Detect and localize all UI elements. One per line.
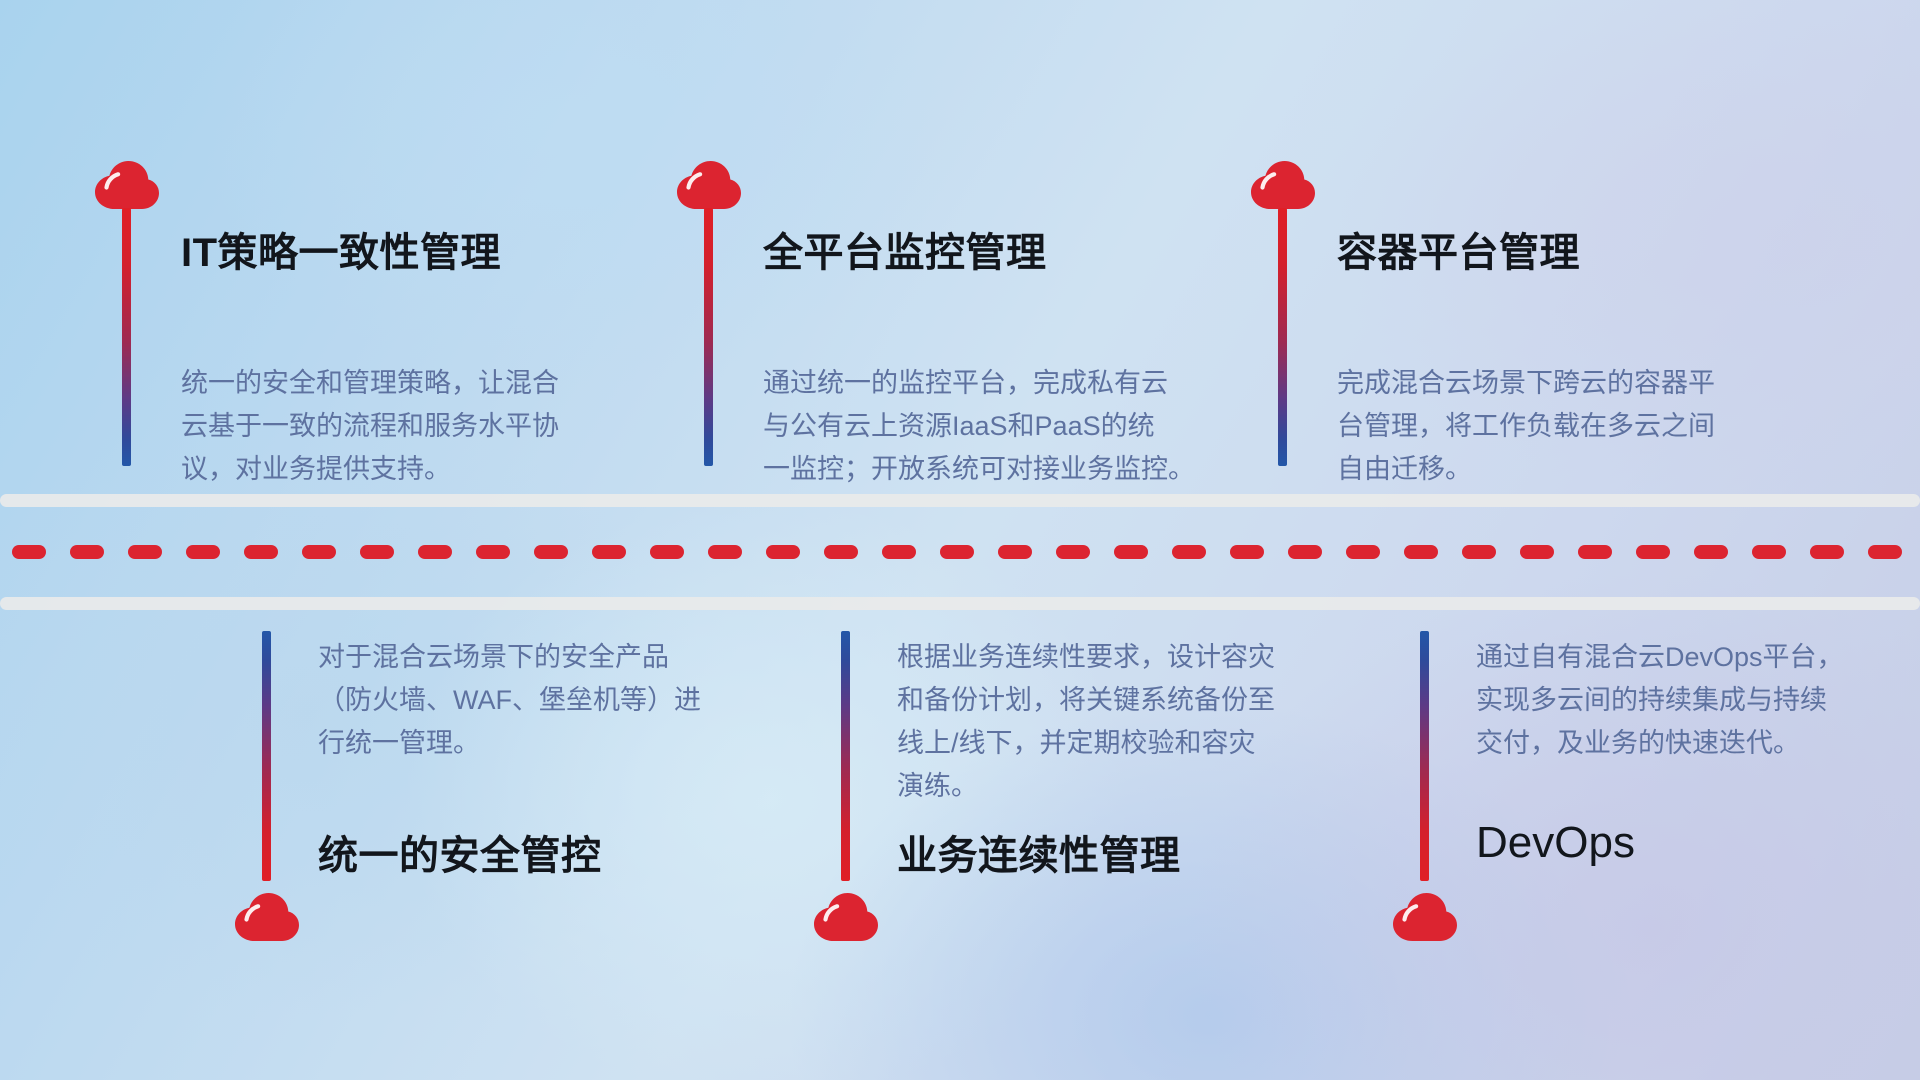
connector-stem xyxy=(262,631,271,881)
connector-stem xyxy=(122,208,131,466)
item-heading: 业务连续性管理 xyxy=(897,823,1181,881)
divider-dash xyxy=(534,545,568,559)
divider-dash xyxy=(1520,545,1554,559)
divider-dash xyxy=(1230,545,1264,559)
divider-dash xyxy=(1578,545,1612,559)
item-body-text: 通过统一的监控平台，完成私有云 与公有云上资源IaaS和PaaS的统 一监控；开… xyxy=(763,362,1218,491)
item-body-text: 统一的安全和管理策略，让混合 云基于一致的流程和服务水平协 议，对业务提供支持。 xyxy=(181,362,621,491)
cloud-icon xyxy=(676,160,742,210)
infographic-canvas: IT策略一致性管理 统一的安全和管理策略，让混合 云基于一致的流程和服务水平协 … xyxy=(0,0,1920,1080)
divider-dash xyxy=(708,545,742,559)
divider-dash xyxy=(766,545,800,559)
cloud-icon xyxy=(1250,160,1316,210)
divider-dash xyxy=(1404,545,1438,559)
divider-dash xyxy=(1752,545,1786,559)
divider-dash xyxy=(1868,545,1902,559)
divider-dash xyxy=(70,545,104,559)
item-heading: IT策略一致性管理 xyxy=(181,220,501,278)
divider-dash xyxy=(1172,545,1206,559)
divider-dash xyxy=(1288,545,1322,559)
divider-bar-bottom xyxy=(0,597,1920,610)
divider-dash xyxy=(244,545,278,559)
item-body-text: 根据业务连续性要求，设计容灾 和备份计划，将关键系统备份至 线上/线下，并定期校… xyxy=(897,636,1342,808)
connector-stem xyxy=(841,631,850,881)
cloud-icon xyxy=(234,892,300,942)
divider-dash xyxy=(1636,545,1670,559)
connector-stem xyxy=(1420,631,1429,881)
divider-dash xyxy=(360,545,394,559)
divider-dash xyxy=(418,545,452,559)
divider-dash xyxy=(940,545,974,559)
divider-dash xyxy=(1694,545,1728,559)
divider-dash xyxy=(1114,545,1148,559)
connector-stem xyxy=(704,208,713,466)
divider-dash xyxy=(592,545,626,559)
divider-dash xyxy=(998,545,1032,559)
divider-dash xyxy=(128,545,162,559)
divider-dash xyxy=(1056,545,1090,559)
divider-dash xyxy=(186,545,220,559)
divider-dash xyxy=(1462,545,1496,559)
divider-dash xyxy=(650,545,684,559)
divider-dash xyxy=(1810,545,1844,559)
cloud-icon xyxy=(1392,892,1458,942)
divider-dash xyxy=(882,545,916,559)
divider-dash xyxy=(12,545,46,559)
divider-dash xyxy=(476,545,510,559)
cloud-icon xyxy=(813,892,879,942)
cloud-icon xyxy=(94,160,160,210)
divider-dashed-line xyxy=(0,545,1920,559)
connector-stem xyxy=(1278,208,1287,466)
divider-dash xyxy=(302,545,336,559)
divider-dash xyxy=(824,545,858,559)
divider-dash xyxy=(1346,545,1380,559)
divider-bar-top xyxy=(0,494,1920,507)
item-body-text: 对于混合云场景下的安全产品 （防火墙、WAF、堡垒机等）进 行统一管理。 xyxy=(318,636,758,765)
item-body-text: 完成混合云场景下跨云的容器平 台管理，将工作负载在多云之间 自由迁移。 xyxy=(1337,362,1797,491)
item-heading: 统一的安全管控 xyxy=(318,823,602,881)
item-heading: DevOps xyxy=(1476,818,1635,868)
item-body-text: 通过自有混合云DevOps平台， 实现多云间的持续集成与持续 交付，及业务的快速… xyxy=(1476,636,1920,765)
item-heading: 全平台监控管理 xyxy=(763,220,1047,278)
item-heading: 容器平台管理 xyxy=(1337,220,1580,278)
